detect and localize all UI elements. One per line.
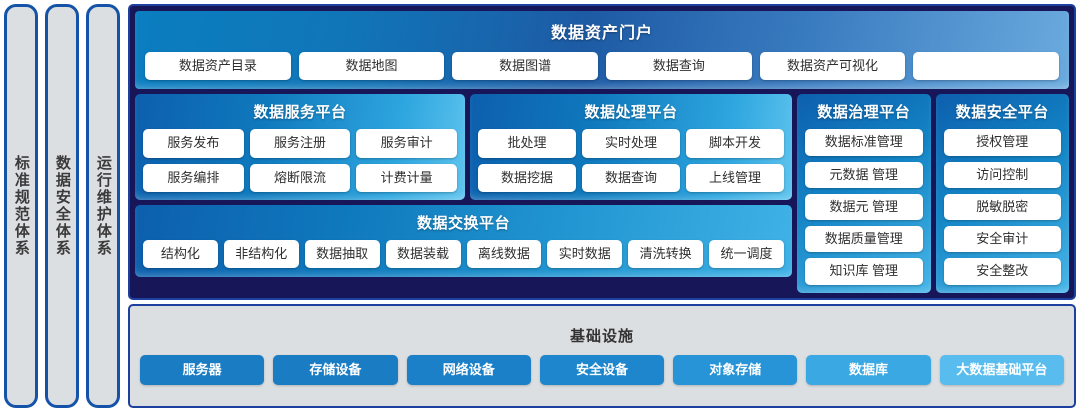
exchange-item-unstructured[interactable]: 非结构化 [224,240,299,268]
pillar-data-security: 数据安全体系 [45,4,79,408]
service-item-orchestration[interactable]: 服务编排 [143,164,244,192]
data-governance-platform-panel: 数据治理平台 数据标准管理 元数据 管理 数据元 管理 数据质量管理 知识库 管… [797,94,931,292]
platform-upper-row: 数据服务平台 服务发布 服务注册 服务审计 服务编排 熔断限流 计费计量 [135,94,792,200]
panel-title: 数据治理平台 [805,101,923,122]
process-item-query[interactable]: 数据查询 [582,164,680,192]
process-item-mining[interactable]: 数据挖据 [478,164,576,192]
infra-item-server[interactable]: 服务器 [140,355,264,385]
infrastructure-title: 基础设施 [140,325,1064,346]
panel-title: 数据安全平台 [944,101,1062,122]
security-item-stack: 授权管理 访问控制 脱敏脱密 安全审计 安全整改 [944,129,1062,284]
exchange-item-load[interactable]: 数据装载 [386,240,461,268]
service-item-publish[interactable]: 服务发布 [143,129,244,157]
service-item-circuit-breaker[interactable]: 熔断限流 [250,164,351,192]
pillar-standards: 标准规范体系 [4,4,38,408]
governance-item-stack: 数据标准管理 元数据 管理 数据元 管理 数据质量管理 知识库 管理 [805,129,923,284]
security-item-remediation[interactable]: 安全整改 [944,258,1062,284]
portal-item-empty[interactable] [913,52,1059,80]
security-item-security-audit[interactable]: 安全审计 [944,226,1062,252]
exchange-item-cleansing[interactable]: 清洗转换 [628,240,703,268]
infrastructure-panel: 基础设施 服务器 存储设备 网络设备 安全设备 对象存储 数据库 大数据基础平台 [128,304,1076,408]
process-item-grid: 批处理 实时处理 脚本开发 数据挖据 数据查询 上线管理 [478,129,784,192]
platform-right-group: 数据治理平台 数据标准管理 元数据 管理 数据元 管理 数据质量管理 知识库 管… [797,94,1069,292]
data-security-platform-panel: 数据安全平台 授权管理 访问控制 脱敏脱密 安全审计 安全整改 [936,94,1070,292]
data-service-platform-panel: 数据服务平台 服务发布 服务注册 服务审计 服务编排 熔断限流 计费计量 [135,94,465,200]
process-item-release-mgmt[interactable]: 上线管理 [686,164,784,192]
platform-body: 数据服务平台 服务发布 服务注册 服务审计 服务编排 熔断限流 计费计量 [135,94,1069,292]
exchange-item-row: 结构化 非结构化 数据抽取 数据装载 离线数据 实时数据 清洗转换 统一调度 [143,240,784,268]
pillar-operations: 运行维护体系 [86,4,120,408]
security-item-access-control[interactable]: 访问控制 [944,162,1062,188]
governance-item-data-standard[interactable]: 数据标准管理 [805,129,923,155]
panel-title: 数据处理平台 [478,101,784,122]
exchange-item-offline-data[interactable]: 离线数据 [467,240,542,268]
data-asset-portal-panel: 数据资产门户 数据资产目录 数据地图 数据图谱 数据查询 数据资产可视化 [135,11,1069,89]
pillar-label: 标准规范体系 [13,155,29,257]
data-exchange-platform-panel: 数据交换平台 结构化 非结构化 数据抽取 数据装载 离线数据 实时数据 清洗转换… [135,205,792,277]
portal-item-catalog[interactable]: 数据资产目录 [145,52,291,80]
portal-item-query[interactable]: 数据查询 [606,52,752,80]
data-processing-platform-panel: 数据处理平台 批处理 实时处理 脚本开发 数据挖据 数据查询 上线管理 [470,94,792,200]
governance-item-data-element[interactable]: 数据元 管理 [805,194,923,220]
infra-item-security-device[interactable]: 安全设备 [540,355,664,385]
governance-item-data-quality[interactable]: 数据质量管理 [805,226,923,252]
pillar-label: 运行维护体系 [95,155,111,257]
security-item-desensitization[interactable]: 脱敏脱密 [944,194,1062,220]
architecture-diagram: 标准规范体系 数据安全体系 运行维护体系 数据资产门户 数据资产目录 数据地图 … [0,0,1080,412]
pillar-column-group: 标准规范体系 数据安全体系 运行维护体系 [0,0,120,412]
service-item-billing[interactable]: 计费计量 [356,164,457,192]
process-item-realtime[interactable]: 实时处理 [582,129,680,157]
infra-item-database[interactable]: 数据库 [806,355,930,385]
process-item-script-dev[interactable]: 脚本开发 [686,129,784,157]
infra-item-storage-device[interactable]: 存储设备 [273,355,397,385]
portal-item-visualization[interactable]: 数据资产可视化 [760,52,906,80]
main-column: 数据资产门户 数据资产目录 数据地图 数据图谱 数据查询 数据资产可视化 [120,0,1080,412]
pillar-label: 数据安全体系 [54,155,70,257]
process-item-batch[interactable]: 批处理 [478,129,576,157]
service-item-audit[interactable]: 服务审计 [356,129,457,157]
service-item-grid: 服务发布 服务注册 服务审计 服务编排 熔断限流 计费计量 [143,129,457,192]
portal-item-map[interactable]: 数据地图 [299,52,445,80]
portal-item-row: 数据资产目录 数据地图 数据图谱 数据查询 数据资产可视化 [145,52,1059,80]
panel-title: 数据服务平台 [143,101,457,122]
security-item-authorization[interactable]: 授权管理 [944,129,1062,155]
portal-item-graph[interactable]: 数据图谱 [452,52,598,80]
infra-item-object-storage[interactable]: 对象存储 [673,355,797,385]
infra-item-network-device[interactable]: 网络设备 [407,355,531,385]
exchange-item-scheduling[interactable]: 统一调度 [709,240,784,268]
service-item-register[interactable]: 服务注册 [250,129,351,157]
exchange-item-realtime-data[interactable]: 实时数据 [547,240,622,268]
governance-item-metadata[interactable]: 元数据 管理 [805,162,923,188]
exchange-item-structured[interactable]: 结构化 [143,240,218,268]
governance-item-knowledge-base[interactable]: 知识库 管理 [805,258,923,284]
platform-left-group: 数据服务平台 服务发布 服务注册 服务审计 服务编排 熔断限流 计费计量 [135,94,792,292]
infrastructure-item-row: 服务器 存储设备 网络设备 安全设备 对象存储 数据库 大数据基础平台 [140,355,1064,385]
exchange-item-extract[interactable]: 数据抽取 [305,240,380,268]
infra-item-bigdata-platform[interactable]: 大数据基础平台 [940,355,1064,385]
portal-title: 数据资产门户 [145,19,1059,43]
panel-title: 数据交换平台 [143,212,784,233]
platform-frame: 数据资产门户 数据资产目录 数据地图 数据图谱 数据查询 数据资产可视化 [128,4,1076,300]
